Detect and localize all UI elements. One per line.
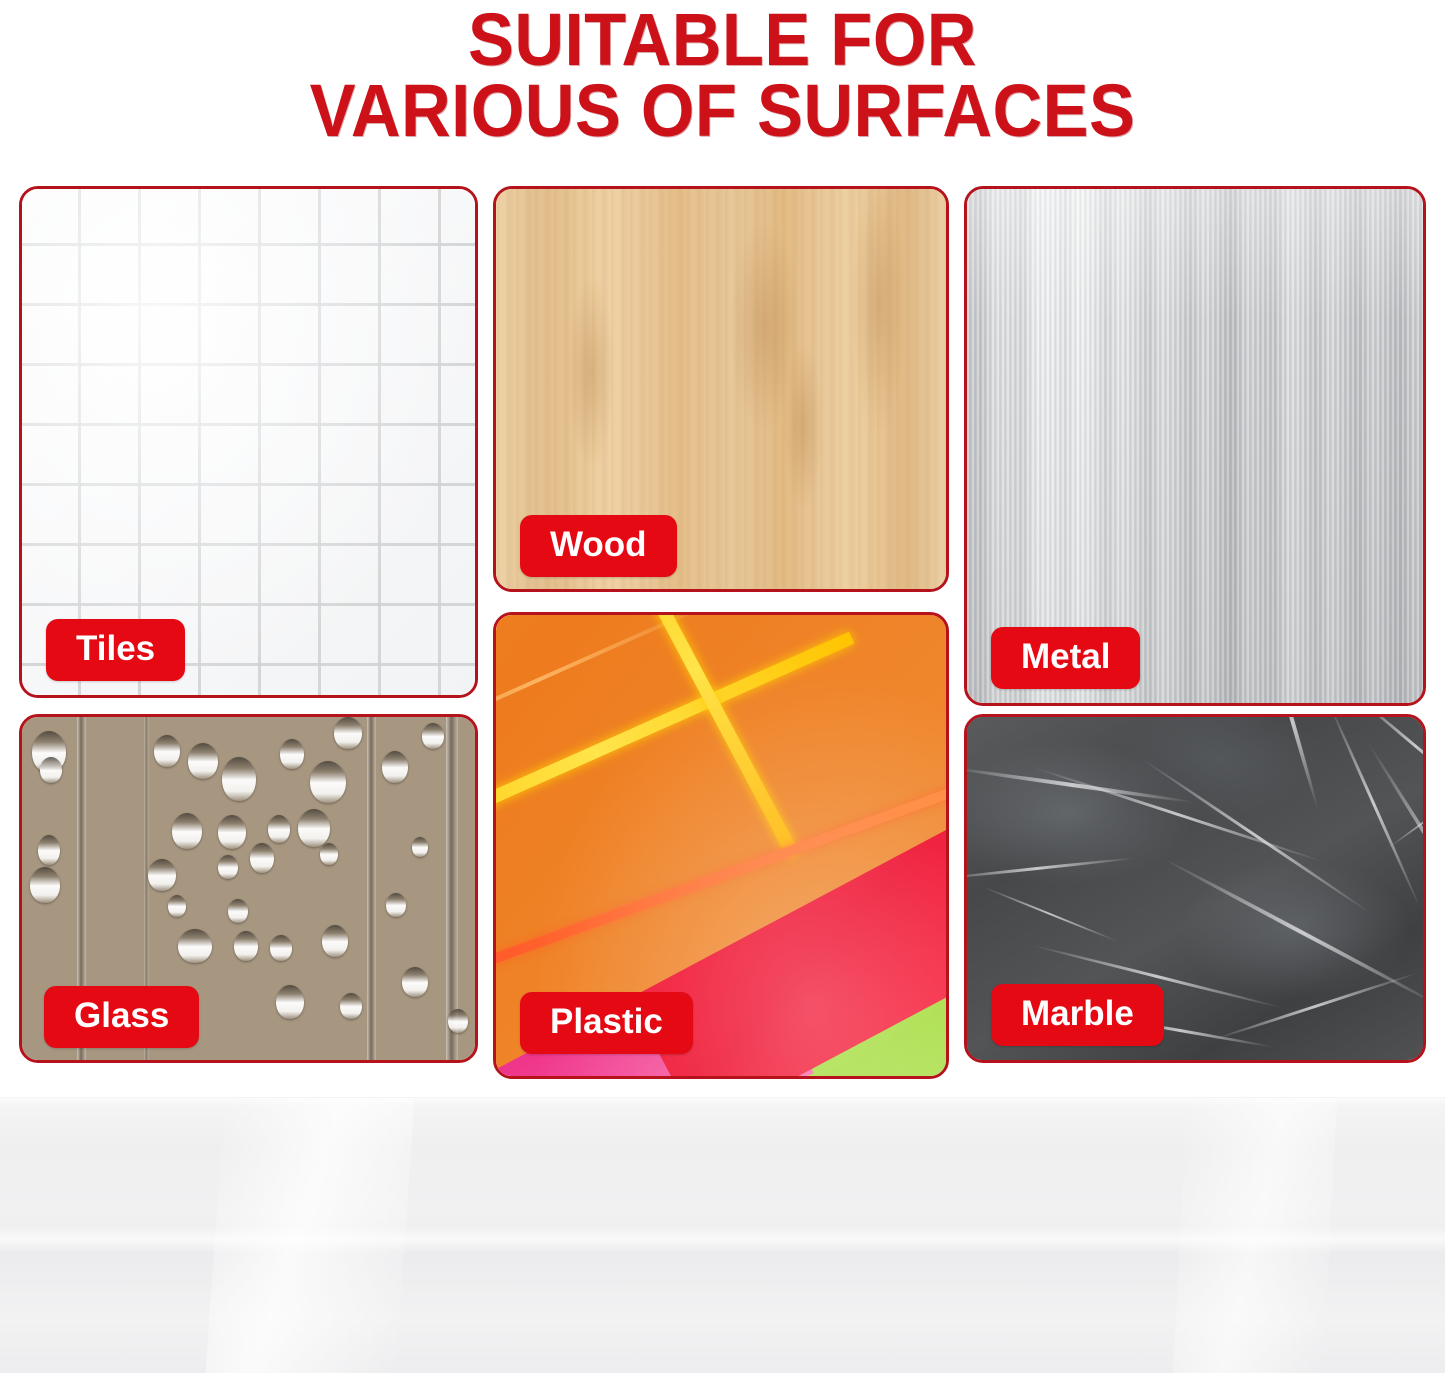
water-droplet [386, 893, 406, 917]
marble-vein [1350, 714, 1426, 802]
surface-panel-tiles: Tiles [19, 186, 478, 698]
water-droplet [218, 855, 238, 879]
marble-vein [1266, 714, 1319, 810]
water-droplet [382, 751, 408, 783]
water-droplet [168, 895, 186, 917]
water-droplet [276, 985, 304, 1019]
water-droplet [334, 717, 362, 749]
badge-marble: Marble [991, 984, 1164, 1046]
water-droplet [340, 993, 362, 1019]
water-droplet [310, 761, 346, 803]
infographic-page: SUITABLE FOR VARIOUS OF SURFACES Tiles W… [0, 0, 1445, 1373]
marble-vein [964, 766, 1196, 805]
badge-tiles: Tiles [46, 619, 185, 681]
water-droplet [270, 935, 292, 961]
water-droplet [250, 843, 274, 873]
title-line-2: VARIOUS OF SURFACES [51, 75, 1395, 146]
water-droplet [222, 757, 256, 801]
panel-gap-strip [0, 1079, 1445, 1098]
water-droplet [178, 929, 212, 963]
water-streak [367, 717, 376, 1060]
water-droplet [30, 867, 60, 903]
water-droplet [280, 739, 304, 769]
marble-vein [1210, 971, 1420, 1042]
water-droplet [32, 731, 66, 773]
water-droplet [412, 837, 428, 857]
product-backdrop [0, 1097, 1445, 1373]
metal-texture [967, 189, 1423, 703]
wood-grain-knot [730, 221, 800, 431]
water-droplet [298, 809, 330, 847]
marble-vein [1386, 778, 1426, 850]
water-droplet [40, 757, 62, 783]
surface-panel-metal: Metal [964, 186, 1426, 706]
marble-vein [1161, 856, 1426, 1010]
title-line-1: SUITABLE FOR [51, 4, 1395, 75]
water-streak [446, 717, 458, 1060]
water-droplet [320, 843, 338, 865]
water-droplet [268, 815, 290, 843]
wood-grain-knot [852, 186, 906, 433]
marble-vein [980, 885, 1120, 943]
water-droplet [188, 743, 218, 779]
water-droplet [38, 835, 60, 865]
water-droplet [218, 815, 246, 849]
marble-vein [1326, 714, 1422, 910]
marble-vein [964, 857, 1137, 881]
wood-grain-knot [568, 277, 614, 467]
water-droplet [228, 899, 248, 923]
surface-panel-glass: Glass [19, 714, 478, 1063]
wood-grain-knot [784, 341, 822, 511]
badge-glass: Glass [44, 986, 199, 1048]
water-droplet [234, 931, 258, 961]
surface-panel-wood: Wood [493, 186, 949, 592]
surface-panel-plastic: Plastic [493, 612, 949, 1079]
water-droplet [402, 967, 428, 997]
water-droplet [154, 735, 180, 767]
marble-vein [1366, 741, 1426, 998]
water-droplet [448, 1009, 468, 1033]
badge-plastic: Plastic [520, 992, 693, 1054]
page-title: SUITABLE FOR VARIOUS OF SURFACES [0, 4, 1445, 146]
water-droplet [172, 813, 202, 849]
surface-panel-marble: Marble [964, 714, 1426, 1063]
badge-wood: Wood [520, 515, 677, 577]
water-droplet [322, 925, 348, 957]
marble-vein [1140, 757, 1374, 916]
badge-metal: Metal [991, 627, 1140, 689]
water-droplet [148, 859, 176, 891]
backdrop-sheen [1173, 1098, 1337, 1373]
water-droplet [422, 723, 444, 749]
marble-vein [1030, 765, 1326, 864]
